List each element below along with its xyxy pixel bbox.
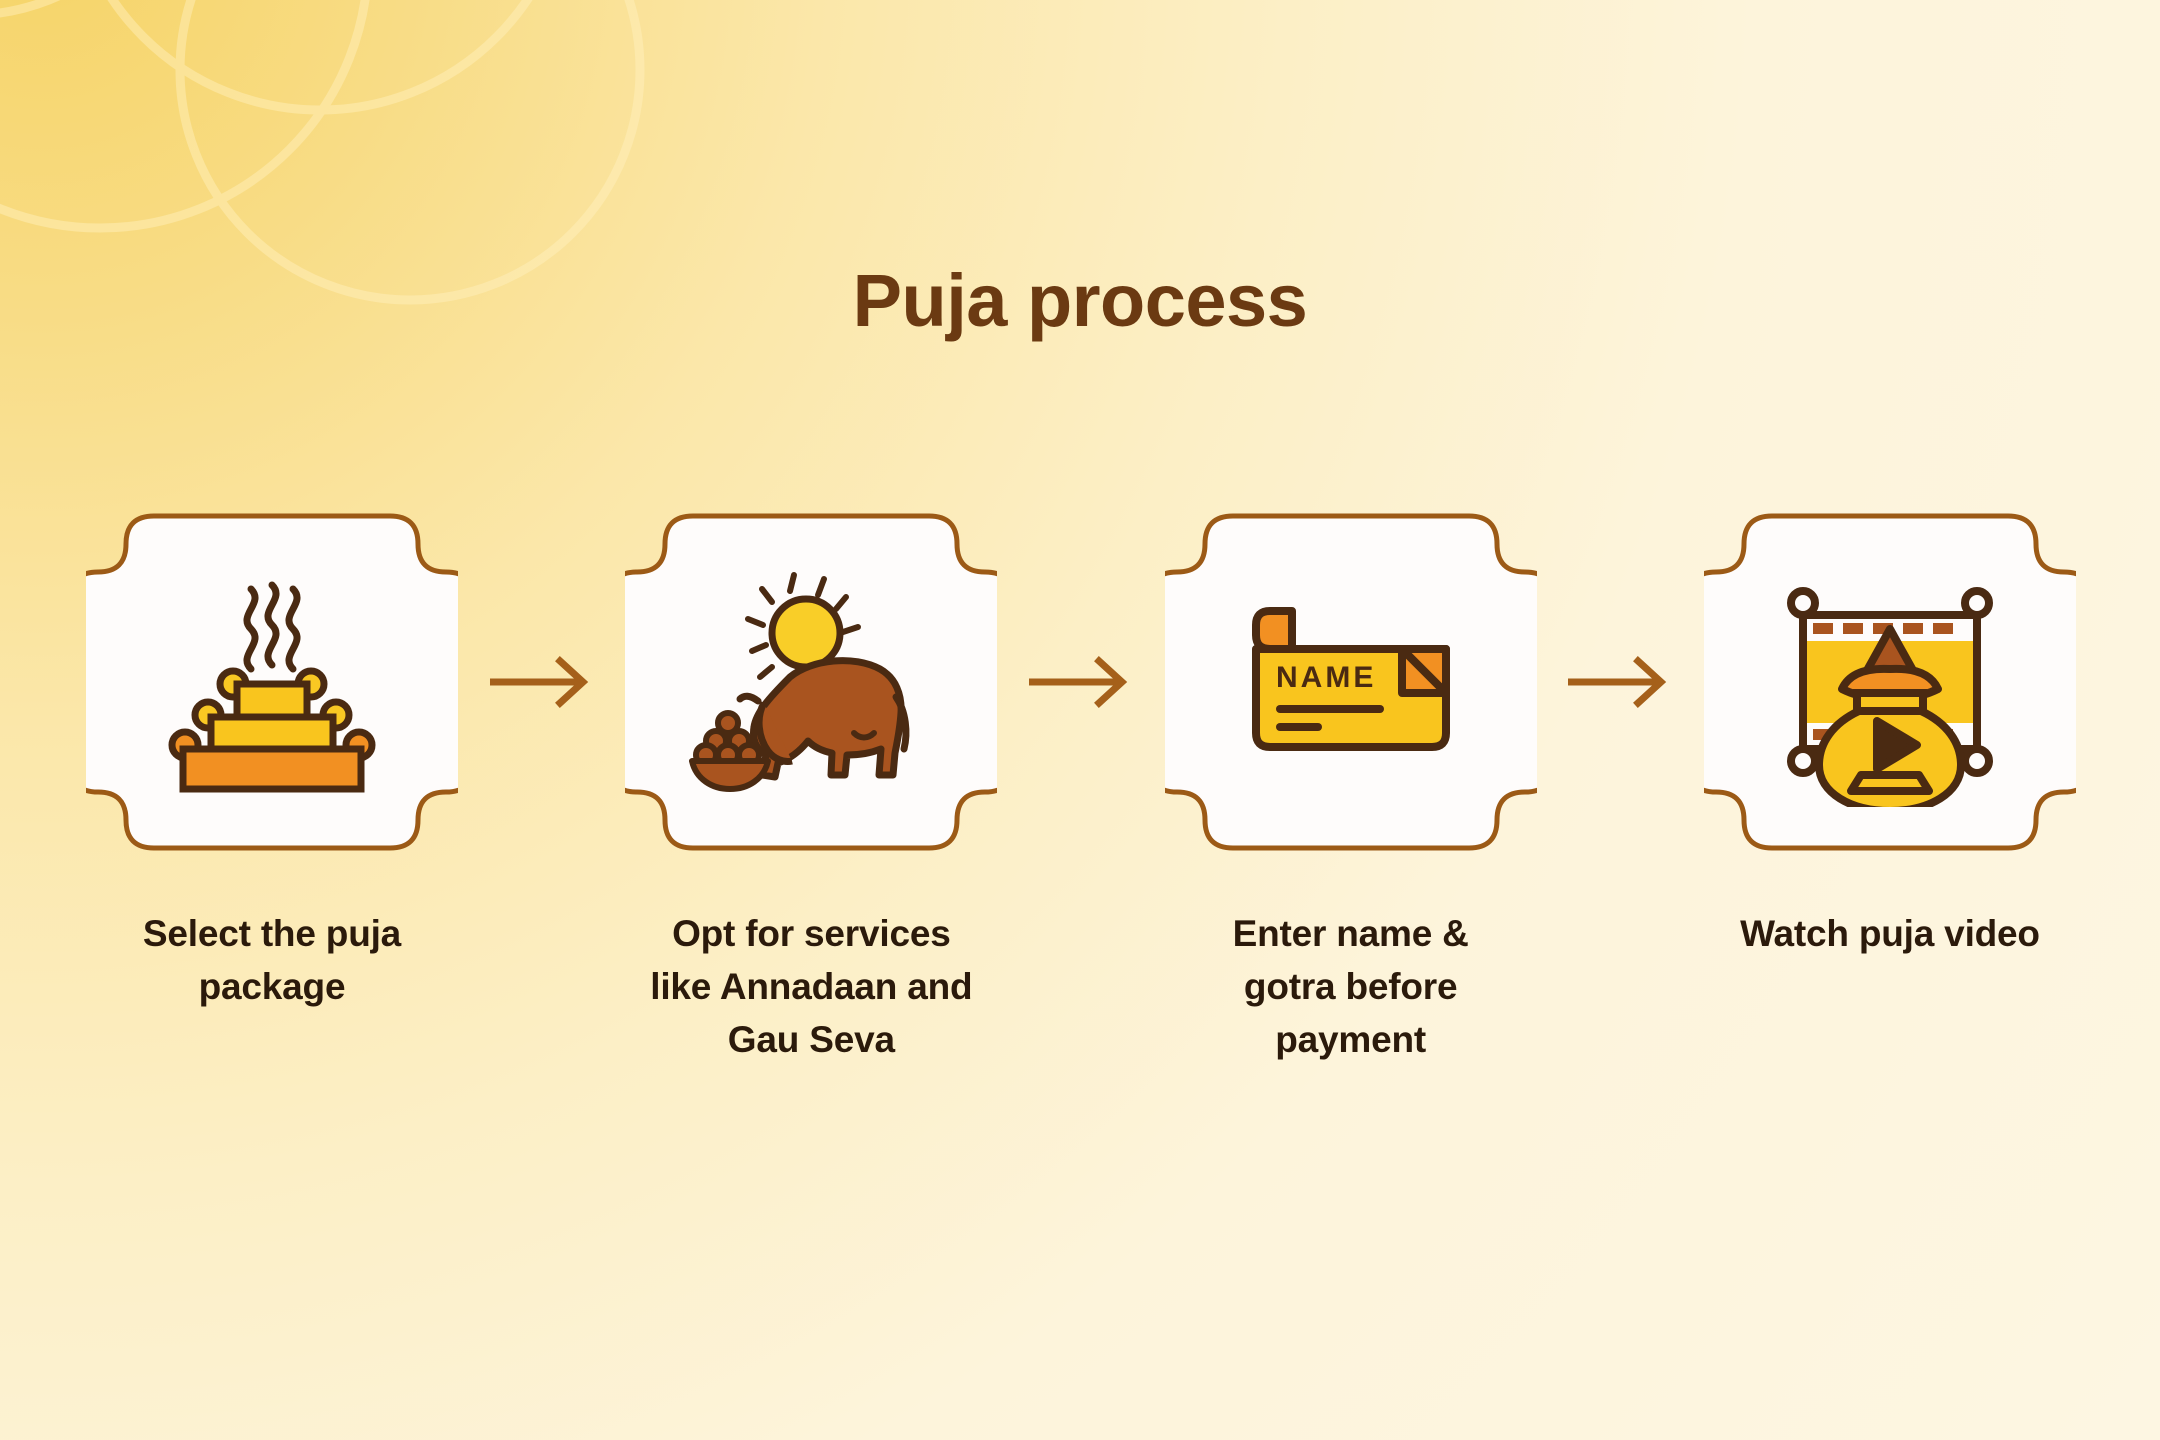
step-3-caption: Enter name & gotra before payment <box>1186 908 1516 1067</box>
step-4-card[interactable] <box>1704 498 2076 866</box>
step-3-card[interactable]: NAME <box>1165 498 1537 866</box>
step-1-card[interactable] <box>86 498 458 866</box>
background-mandala-decoration <box>0 0 670 440</box>
arrow-right-icon <box>1029 653 1133 711</box>
process-step-4[interactable]: Watch puja video <box>1704 498 2076 961</box>
arrow-right-icon <box>1568 653 1672 711</box>
step-2-card[interactable] <box>625 498 997 866</box>
cow-seva-icon <box>686 557 936 807</box>
arrow-right-icon <box>490 653 594 711</box>
connector-arrow-3 <box>1537 498 1704 866</box>
process-step-3[interactable]: NAME Enter name & gotra before payment <box>1165 498 1537 1067</box>
page-title: Puja process <box>0 258 2160 343</box>
step-4-caption: Watch puja video <box>1725 908 2055 961</box>
connector-arrow-2 <box>997 498 1164 866</box>
process-step-1[interactable]: Select the puja package <box>86 498 458 1014</box>
name-label-text: NAME <box>1276 661 1376 694</box>
step-2-caption: Opt for services like Annadaan and Gau S… <box>646 908 976 1067</box>
puja-process-flow: Select the puja package <box>86 498 2076 1067</box>
step-1-caption: Select the puja package <box>107 908 437 1014</box>
connector-arrow-1 <box>458 498 625 866</box>
puja-altar-icon <box>147 557 397 807</box>
puja-video-icon <box>1765 557 2015 807</box>
process-step-2[interactable]: Opt for services like Annadaan and Gau S… <box>625 498 997 1067</box>
name-tag-icon: NAME <box>1226 557 1476 807</box>
